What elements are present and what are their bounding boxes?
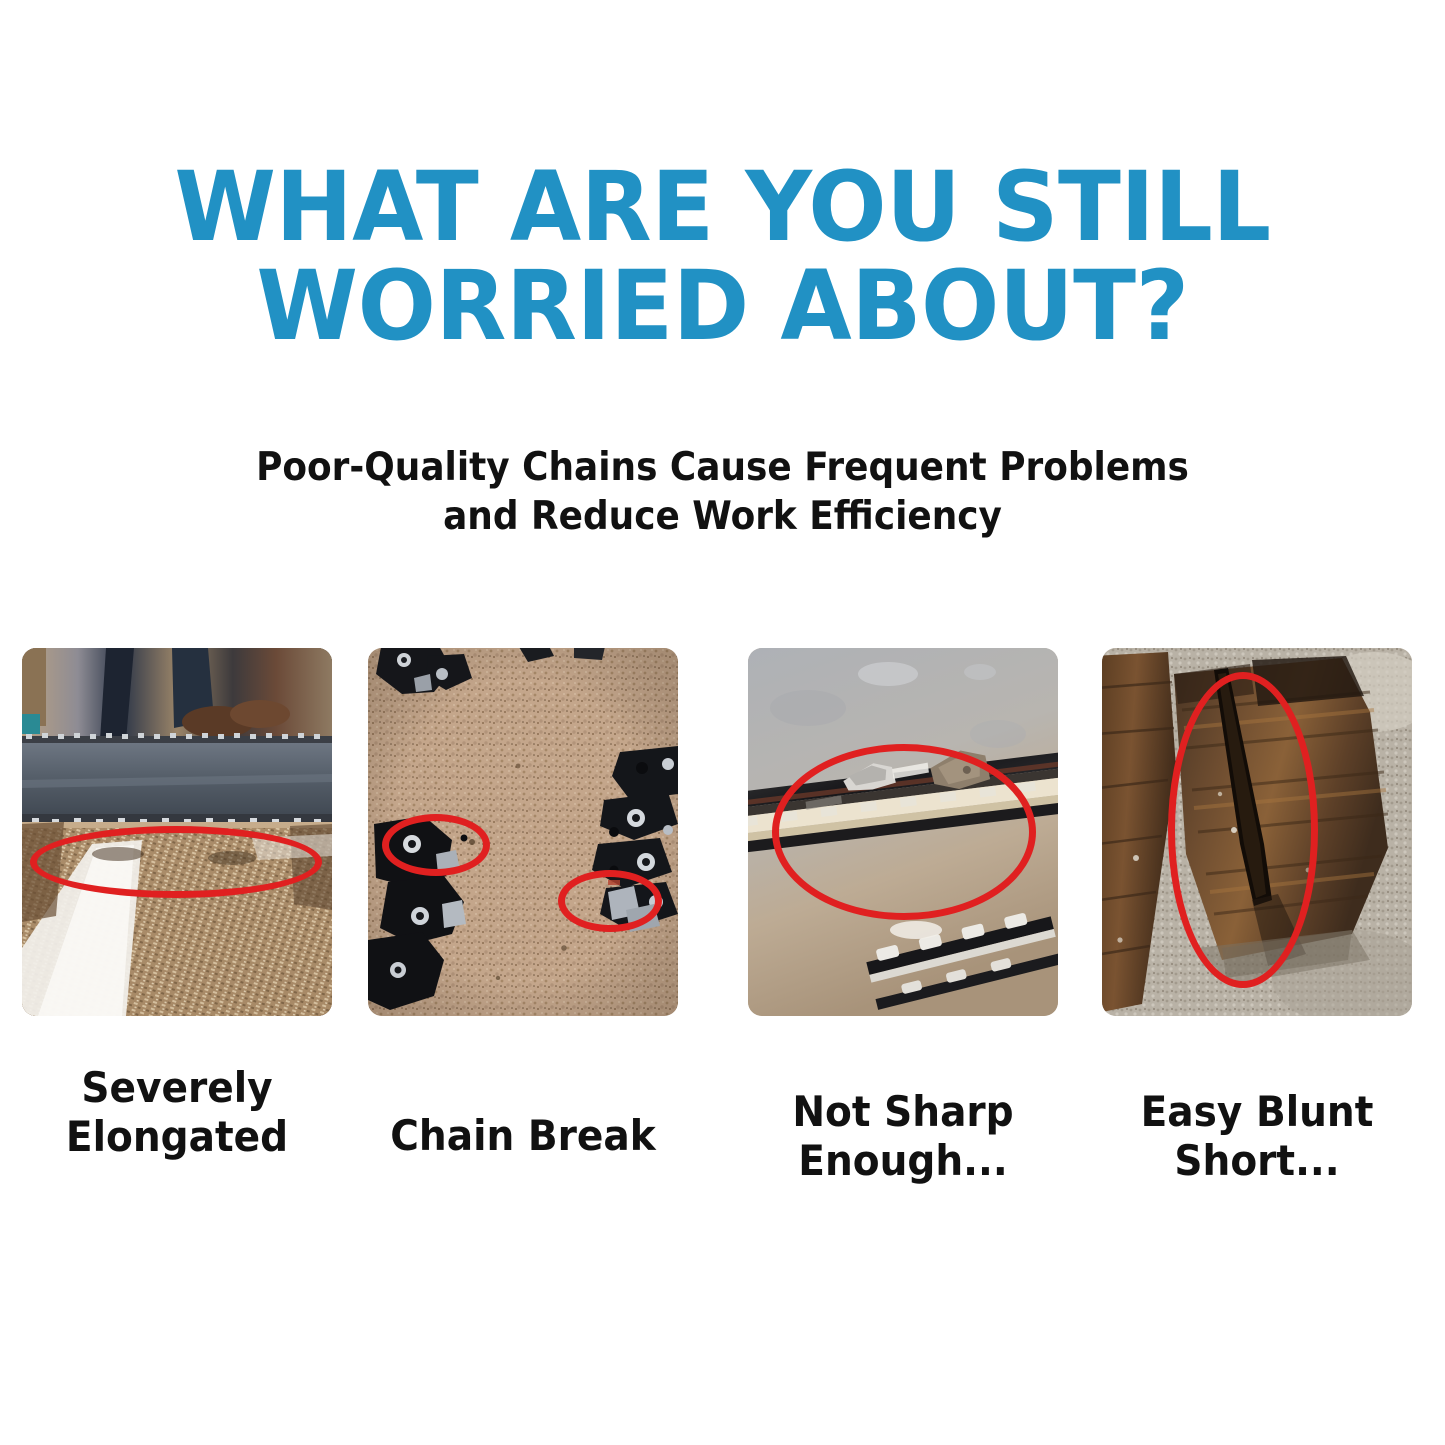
subtitle-line-1: Poor-Quality Chains Cause Frequent Probl… [58, 443, 1387, 492]
problem-caption-row: Severely Elongated Chain Break Not Sharp… [0, 1060, 1445, 1200]
problem-panel-severely-elongated [22, 648, 332, 1016]
caption-line-2: Enough... [759, 1137, 1047, 1186]
infographic-page: WHAT ARE YOU STILL WORRIED ABOUT? Poor-Q… [0, 0, 1445, 1445]
caption-severely-elongated: Severely Elongated [33, 1064, 321, 1161]
highlight-ellipse [30, 826, 322, 898]
problem-panel-chain-break [368, 648, 678, 1016]
highlight-ellipse [772, 744, 1036, 920]
problem-photo-row [0, 648, 1445, 1016]
page-subtitle: Poor-Quality Chains Cause Frequent Probl… [58, 443, 1387, 541]
caption-line-1: Not Sharp [759, 1088, 1047, 1137]
caption-line-1: Severely [33, 1064, 321, 1113]
caption-line-2: Short... [1113, 1137, 1401, 1186]
problem-panel-not-sharp [748, 648, 1058, 1016]
highlight-ellipse [558, 870, 662, 932]
page-headline: WHAT ARE YOU STILL WORRIED ABOUT? [29, 158, 1416, 356]
caption-chain-break: Chain Break [379, 1112, 667, 1161]
caption-line-2: Elongated [33, 1113, 321, 1162]
caption-line-1: Chain Break [379, 1112, 667, 1161]
headline-line-2: WORRIED ABOUT? [29, 257, 1416, 356]
problem-panel-easy-blunt [1102, 648, 1412, 1016]
highlight-ellipse [1168, 672, 1318, 988]
headline-line-1: WHAT ARE YOU STILL [29, 158, 1416, 257]
subtitle-line-2: and Reduce Work Efficiency [58, 492, 1387, 541]
highlight-ellipse [382, 814, 490, 876]
caption-not-sharp: Not Sharp Enough... [759, 1088, 1047, 1185]
caption-line-1: Easy Blunt [1113, 1088, 1401, 1137]
caption-easy-blunt: Easy Blunt Short... [1113, 1088, 1401, 1185]
